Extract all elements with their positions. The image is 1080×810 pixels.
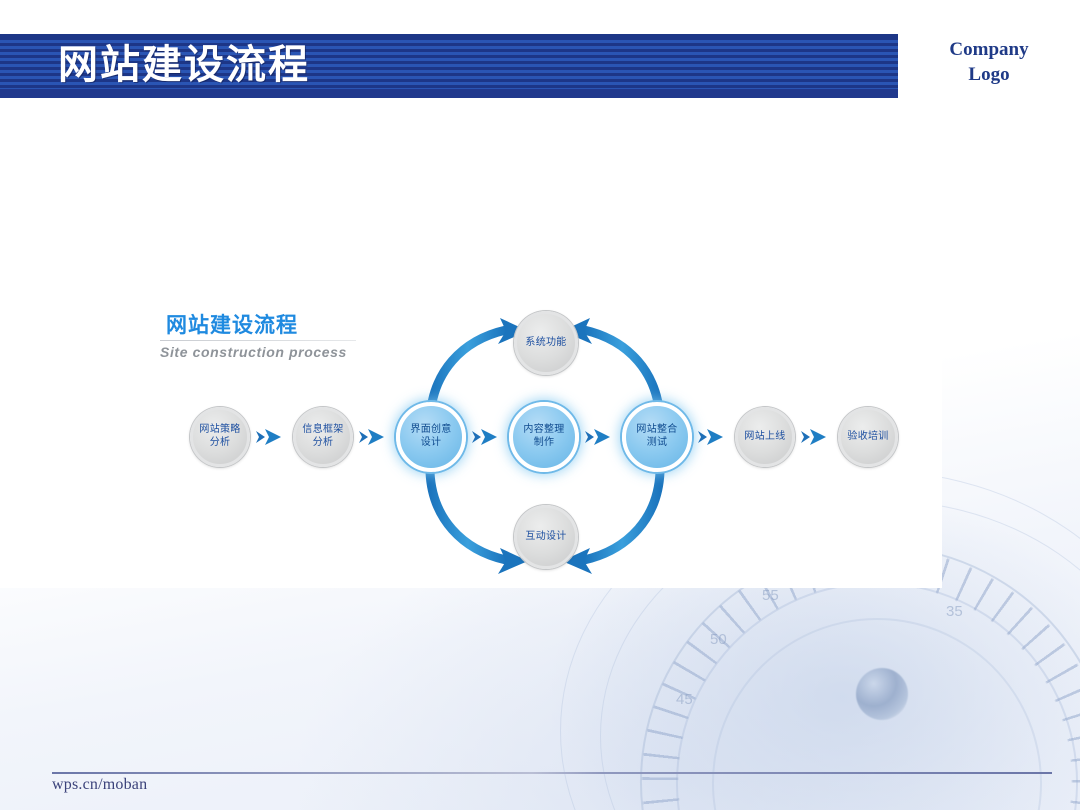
connector-arrow-1-2 — [256, 428, 282, 446]
node-label-line1: 内容整理 — [523, 424, 564, 437]
diagram-node-step3[interactable]: 界面创意 设计 — [396, 402, 466, 472]
dial-number: 50 — [710, 631, 727, 648]
diagram-subtitle: Site construction process — [160, 344, 347, 360]
connector-arrow-2-3 — [359, 428, 385, 446]
node-label-line1: 验收培训 — [847, 431, 888, 444]
diagram-title-divider — [160, 340, 356, 341]
node-label-line1: 网站整合 — [636, 424, 677, 437]
diagram-node-branch-top[interactable]: 系统功能 — [514, 311, 578, 375]
node-label-line2: 分析 — [302, 437, 343, 450]
diagram-node-step2[interactable]: 信息框架 分析 — [293, 407, 353, 467]
node-label-line1: 网站策略 — [199, 424, 240, 437]
node-label-line1: 网站上线 — [744, 431, 785, 444]
node-label-line1: 信息框架 — [302, 424, 343, 437]
page-title: 网站建设流程 — [58, 34, 310, 98]
diagram-node-step5[interactable]: 网站整合 测试 — [622, 402, 692, 472]
diagram-node-branch-bottom[interactable]: 互动设计 — [514, 505, 578, 569]
diagram-node-step1[interactable]: 网站策略 分析 — [190, 407, 250, 467]
diagram-title: 网站建设流程 — [166, 309, 298, 339]
node-label-line1: 界面创意 — [410, 424, 451, 437]
connector-arrow-3-4 — [472, 428, 498, 446]
node-label-line2: 制作 — [523, 437, 564, 450]
slide-canvas: 60 55 50 45 40 35 网站建设流程 Company Logo 网站… — [0, 0, 1080, 810]
footer-divider — [52, 772, 1052, 774]
node-label-line2: 测试 — [636, 437, 677, 450]
connector-arrow-6-7 — [801, 428, 827, 446]
diagram-node-step4[interactable]: 内容整理 制作 — [509, 402, 579, 472]
dial-number: 45 — [676, 691, 693, 708]
diagram-node-step6[interactable]: 网站上线 — [735, 407, 795, 467]
node-label-line2: 设计 — [410, 437, 451, 450]
company-logo: Company Logo — [898, 26, 1080, 98]
connector-arrow-4-5 — [585, 428, 611, 446]
lens-bead-icon — [856, 668, 908, 720]
node-label-line1: 系统功能 — [525, 337, 566, 350]
dial-number: 35 — [946, 603, 963, 620]
diagram-node-step7[interactable]: 验收培训 — [838, 407, 898, 467]
company-logo-line2: Logo — [968, 62, 1009, 87]
compass-dial-inner-icon — [681, 587, 1072, 810]
node-label-line2: 分析 — [199, 437, 240, 450]
dial-number: 55 — [762, 587, 779, 604]
connector-arrow-5-6 — [698, 428, 724, 446]
company-logo-line1: Company — [949, 37, 1028, 62]
node-label-line1: 互动设计 — [525, 531, 566, 544]
footer-url: wps.cn/moban — [52, 776, 147, 794]
